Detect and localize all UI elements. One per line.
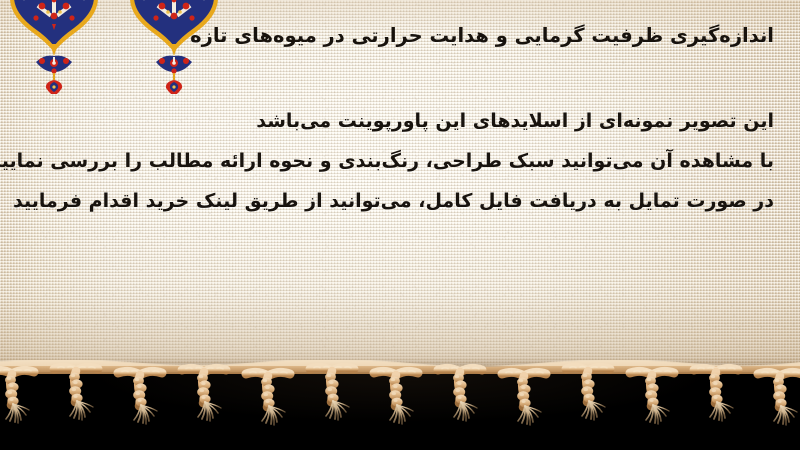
carpet-black-field xyxy=(0,372,800,450)
slide-text-layer: اندازه‌گیری ظرفیت گرمایی و هدایت حرارتی … xyxy=(0,0,800,382)
body-line: با مشاهده آن می‌توانید سبک طراحی، رنگ‌بن… xyxy=(26,152,774,171)
body-line: در صورت تمایل به دریافت فایل کامل، می‌تو… xyxy=(26,192,774,211)
powerpoint-slide: اندازه‌گیری ظرفیت گرمایی و هدایت حرارتی … xyxy=(0,0,800,450)
page-title: اندازه‌گیری ظرفیت گرمایی و هدایت حرارتی … xyxy=(214,24,774,48)
slide-body-text: این تصویر نمونه‌ای از اسلایدهای این پاور… xyxy=(26,112,774,211)
body-line: این تصویر نمونه‌ای از اسلایدهای این پاور… xyxy=(26,112,774,131)
